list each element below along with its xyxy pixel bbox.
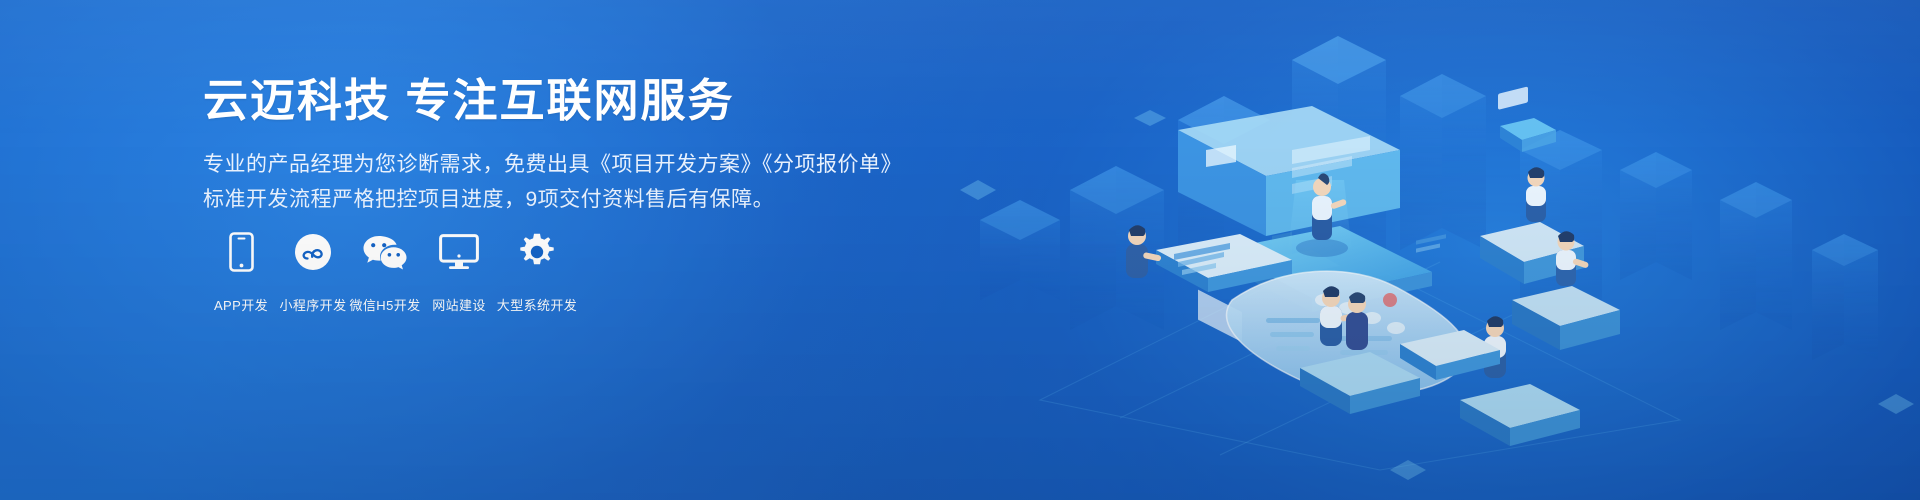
service-item-website[interactable]: 网站建设 <box>423 231 495 314</box>
service-label-large-system: 大型系统开发 <box>497 295 577 314</box>
service-label-app: APP开发 <box>214 295 268 314</box>
mobile-phone-icon <box>229 231 254 273</box>
banner-subtitle: 专业的产品经理为您诊断需求，免费出具《项目开发方案》《分项报价单》 标准开发流程… <box>203 148 923 216</box>
service-item-miniprogram[interactable]: 小程序开发 <box>277 231 349 314</box>
isometric-technology-illustration <box>920 0 1920 500</box>
gear-icon <box>518 231 556 273</box>
subtitle-line-2: 标准开发流程严格把控项目进度，9项交付资料售后有保障。 <box>203 183 923 216</box>
monitor-icon <box>439 231 479 273</box>
subtitle-line-1: 专业的产品经理为您诊断需求，免费出具《项目开发方案》《分项报价单》 <box>203 148 923 181</box>
service-list: APP开发 小程序开发 <box>205 231 573 314</box>
page-title: 云迈科技 专注互联网服务 <box>203 72 923 130</box>
service-label-website: 网站建设 <box>432 295 486 314</box>
service-item-app[interactable]: APP开发 <box>205 231 277 314</box>
service-item-large-system[interactable]: 大型系统开发 <box>501 231 573 314</box>
hero-banner: 云迈科技 专注互联网服务 专业的产品经理为您诊断需求，免费出具《项目开发方案》《… <box>0 0 1920 500</box>
service-label-miniprogram: 小程序开发 <box>279 295 346 314</box>
service-label-wechat-h5: 微信H5开发 <box>349 295 420 314</box>
wechat-icon <box>362 231 408 273</box>
banner-text-block: 云迈科技 专注互联网服务 专业的产品经理为您诊断需求，免费出具《项目开发方案》《… <box>203 72 923 218</box>
service-item-wechat-h5[interactable]: 微信H5开发 <box>349 231 421 314</box>
mini-program-icon <box>294 231 332 273</box>
